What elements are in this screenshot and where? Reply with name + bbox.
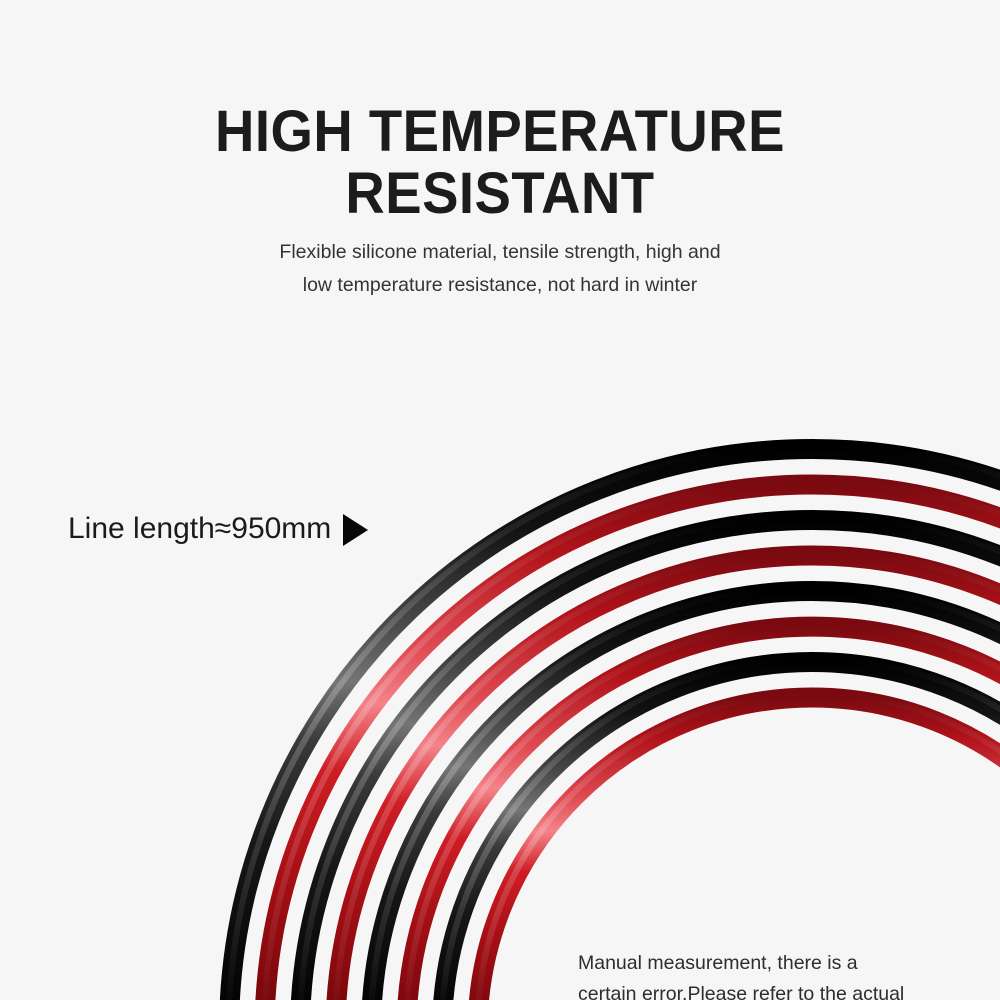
triangle-right-icon bbox=[343, 514, 368, 546]
subtitle-text: Flexible silicone material, tensile stre… bbox=[180, 236, 820, 302]
line-length-label: Line length≈950mm bbox=[68, 512, 331, 546]
line-length-annotation: Line length≈950mm bbox=[68, 512, 368, 546]
product-feature-banner: HIGH TEMPERATURE RESISTANT Flexible sili… bbox=[0, 0, 1000, 1000]
page-title: HIGH TEMPERATURE RESISTANT bbox=[30, 101, 970, 225]
measurement-disclaimer: Manual measurement, there is a certain e… bbox=[578, 948, 1000, 1000]
